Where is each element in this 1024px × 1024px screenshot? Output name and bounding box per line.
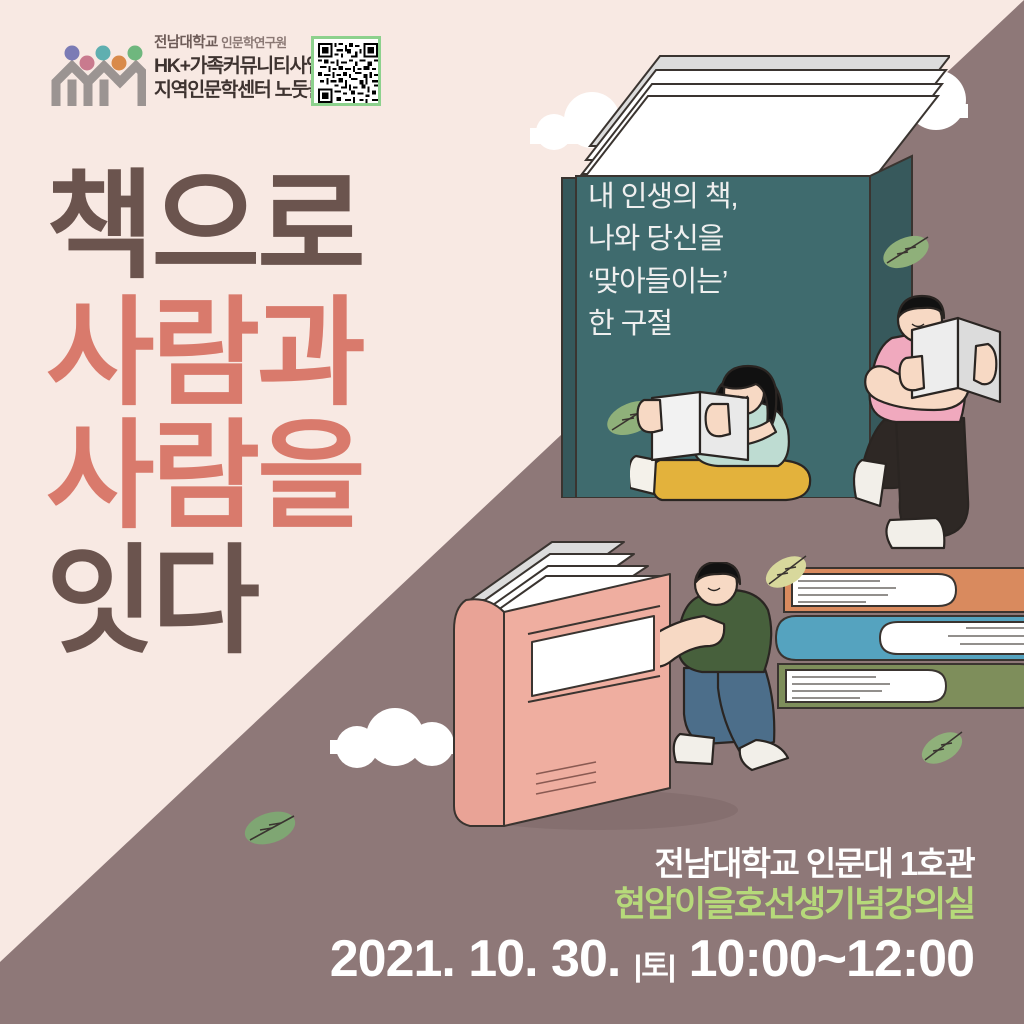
- headline-line-3: 사람을: [46, 422, 516, 533]
- reader-standing-illustration: [848, 292, 1024, 554]
- headline-line-4: 잇다: [46, 547, 516, 658]
- logo-text-block: 전남대학교 인문학연구원 HK+가족커뮤니티사업단 지역인문학센터 노둣돌: [154, 34, 334, 102]
- event-date: 2021. 10. 30.: [330, 930, 621, 988]
- logo-org-line1: 전남대학교 인문학연구원: [154, 34, 334, 54]
- logo-org-institute: 인문학연구원: [221, 36, 286, 50]
- headline-line-2: 사람과: [46, 299, 516, 410]
- reader-seated-illustration: [630, 348, 880, 508]
- reader-pushing-illustration: [660, 562, 820, 812]
- headline-block: 책으로 사람과 사람을 잇다: [46, 172, 516, 658]
- event-day-of-week: |토|: [634, 950, 675, 983]
- leaf-icon-4: [918, 724, 970, 775]
- cloud-bottom-left: [330, 708, 460, 754]
- event-time: 10:00~12:00: [689, 930, 974, 988]
- event-info-block: 전남대학교 인문대 1호관 현암이을호선생기념강의실 2021. 10. 30.…: [330, 844, 974, 990]
- venue-room: 현암이을호선생기념강의실: [330, 884, 974, 927]
- headline-line-1: 책으로: [46, 172, 516, 283]
- logo-org-name: 전남대학교: [154, 35, 218, 51]
- event-datetime: 2021. 10. 30. |토| 10:00~12:00: [330, 929, 974, 990]
- qr-code-icon[interactable]: [311, 36, 381, 106]
- leaf-icon-5: [242, 802, 302, 859]
- venue-building: 전남대학교 인문대 1호관: [330, 844, 974, 884]
- logo-org-line2: HK+가족커뮤니티사업단: [154, 54, 334, 78]
- logo-org-line3: 지역인문학센터 노둣돌: [154, 78, 334, 102]
- poster-canvas: 내 인생의 책, 나와 당신을 ‘맞아들이는’ 한 구절: [0, 0, 1024, 1024]
- book-quote-text: 내 인생의 책, 나와 당신을 ‘맞아들이는’ 한 구절: [588, 176, 888, 345]
- logo-center-prefix: 지역인문학센터: [154, 79, 270, 101]
- people-logo-icon: [50, 40, 146, 106]
- leaf-icon-2: [880, 226, 936, 281]
